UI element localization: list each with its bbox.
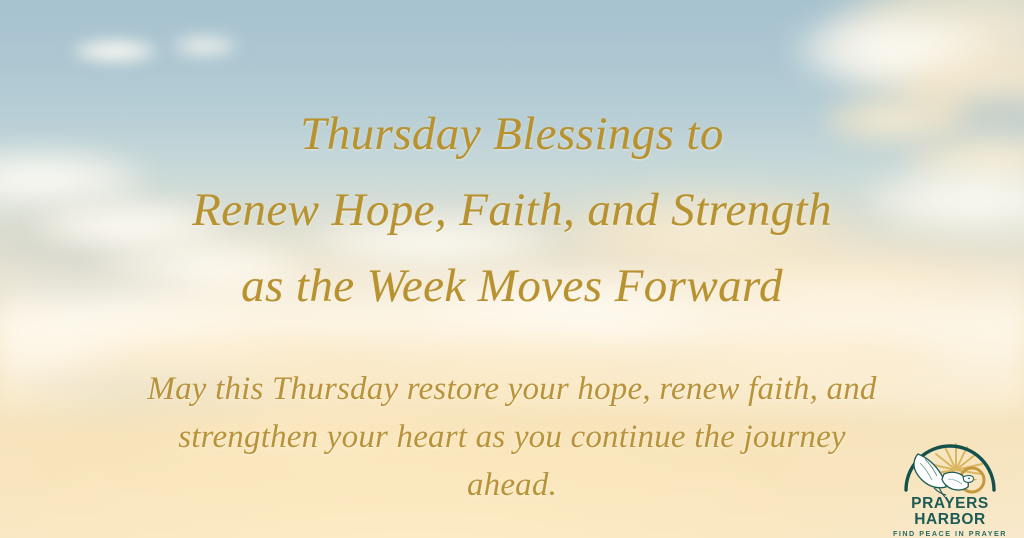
headline-line-1: Thursday Blessings to [0,96,1024,172]
headline-line-2: Renew Hope, Faith, and Strength [0,172,1024,248]
poster-canvas: Thursday Blessings to Renew Hope, Faith,… [0,0,1024,538]
body-line-3: ahead. [112,461,912,509]
dove-with-arc-and-ring-icon [884,436,1016,498]
body-message-block: May this Thursday restore your hope, ren… [112,365,912,509]
body-line-2: strengthen your heart as you continue th… [112,413,912,461]
body-line-1: May this Thursday restore your hope, ren… [112,365,912,413]
headline-block: Thursday Blessings to Renew Hope, Faith,… [0,96,1024,324]
headline-line-3: as the Week Moves Forward [0,248,1024,324]
brand-logo[interactable]: PRAYERS HARBOR FIND PEACE IN PRAYER [884,436,1016,532]
logo-brand-name: PRAYERS HARBOR [884,496,1016,528]
poster-content: Thursday Blessings to Renew Hope, Faith,… [0,0,1024,538]
logo-tagline: FIND PEACE IN PRAYER [884,529,1016,538]
